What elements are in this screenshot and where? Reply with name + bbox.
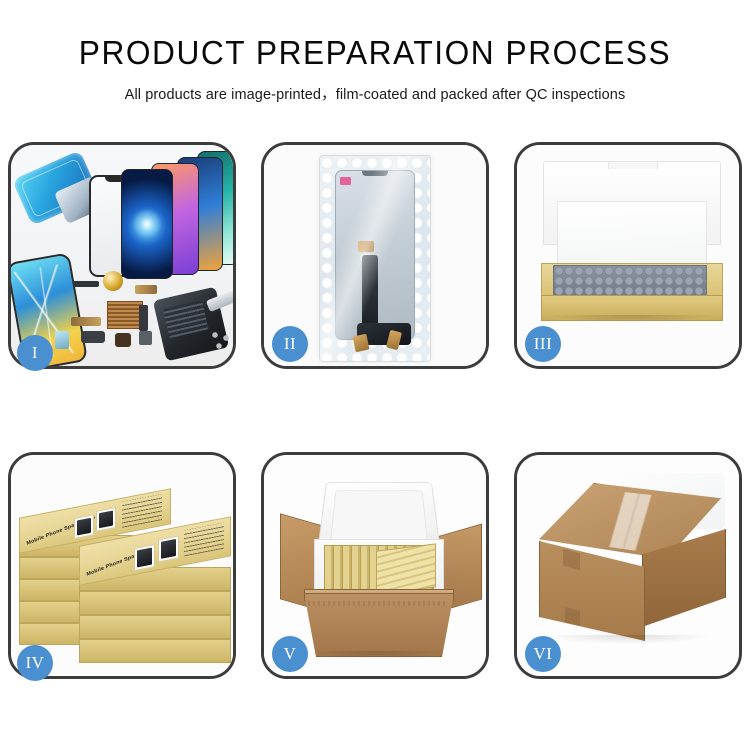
battery-part-icon bbox=[115, 333, 131, 347]
step-badge-4: IV bbox=[17, 645, 53, 681]
carton-corrugation-icon bbox=[308, 601, 448, 606]
step-1-image bbox=[11, 145, 233, 366]
stack-right-layer-3 bbox=[79, 591, 231, 615]
left-lid-window-b bbox=[96, 507, 116, 532]
packed-boxes-angled-icon bbox=[376, 543, 436, 594]
step-badge-6: VI bbox=[525, 636, 561, 672]
lower-connector-right-icon bbox=[386, 330, 402, 350]
right-lid-window-a bbox=[134, 544, 155, 571]
header: PRODUCT PREPARATION PROCESS All products… bbox=[0, 0, 750, 104]
display-burst-icon bbox=[132, 209, 162, 239]
carton-front-face-icon bbox=[539, 541, 645, 641]
page-subtitle: All products are image-printed，film-coat… bbox=[0, 71, 750, 104]
sim-tray-icon bbox=[139, 331, 152, 345]
sealed-carton-shadow bbox=[547, 635, 711, 644]
flex-cable-icon bbox=[362, 255, 378, 339]
stack-right-layer-5 bbox=[79, 639, 231, 663]
speaker-module-icon bbox=[103, 271, 123, 291]
carton-shadow bbox=[310, 651, 444, 659]
process-step-panel-5: V bbox=[261, 452, 489, 679]
process-step-panel-2: II bbox=[261, 142, 489, 369]
bubble-wrap-bag-icon bbox=[319, 155, 431, 362]
connector-part-icon bbox=[71, 317, 101, 326]
step-badge-3: III bbox=[525, 326, 561, 362]
camera-module-icon bbox=[81, 331, 105, 343]
right-lid-window-b bbox=[158, 535, 179, 562]
product-preparation-infographic: PRODUCT PREPARATION PROCESS All products… bbox=[0, 0, 750, 750]
process-step-panel-3: III bbox=[514, 142, 742, 369]
step-badge-1: I bbox=[17, 335, 53, 371]
left-lid-checklist bbox=[122, 494, 162, 528]
step-badge-5: V bbox=[272, 636, 308, 672]
phone-display-blue-icon bbox=[121, 169, 173, 279]
step-badge-2: II bbox=[272, 326, 308, 362]
process-step-panel-6: VI bbox=[514, 452, 742, 679]
sensor-part-icon bbox=[55, 331, 69, 349]
flex-cable-part-icon bbox=[135, 285, 157, 294]
box-shadow bbox=[551, 315, 713, 322]
right-lid-checklist bbox=[184, 523, 224, 557]
process-step-panel-4: Mobile Phone Spare Parts bbox=[8, 452, 236, 679]
connector-tab-icon bbox=[358, 241, 374, 252]
lcd-assembly-icon bbox=[335, 170, 415, 340]
process-steps-grid: I II bbox=[8, 142, 742, 679]
step-4-image: Mobile Phone Spare Parts bbox=[11, 455, 233, 676]
ribbon-cable-icon bbox=[139, 305, 148, 331]
chip-array-icon bbox=[107, 301, 143, 329]
qc-sticker-icon bbox=[340, 177, 351, 185]
page-title: PRODUCT PREPARATION PROCESS bbox=[15, 0, 735, 71]
lower-connector-left-icon bbox=[352, 334, 369, 353]
stack-right-layer-4 bbox=[79, 615, 231, 639]
box-stack: Mobile Phone Spare Parts bbox=[17, 473, 233, 665]
left-lid-window-a bbox=[74, 514, 94, 539]
screws-icon bbox=[211, 331, 233, 351]
earpiece-part-icon bbox=[73, 281, 99, 287]
process-step-panel-1: I bbox=[8, 142, 236, 369]
